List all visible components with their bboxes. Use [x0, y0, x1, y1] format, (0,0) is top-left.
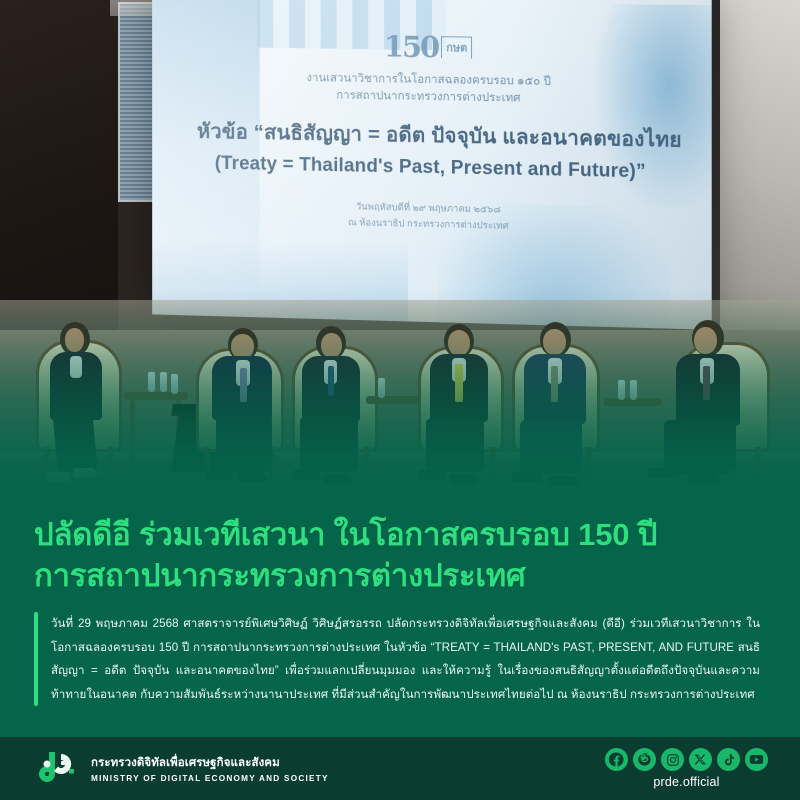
panelist-tie [240, 368, 247, 402]
ministry-brand: กระทรวงดิจิทัลเพื่อเศรษฐกิจและสังคม MINI… [32, 749, 329, 789]
social-handle: prde.official [653, 775, 719, 789]
panelist-shoe [512, 472, 542, 482]
slide-content: 150 กษต งานเสวนาวิชาการในโอกาสฉลองครบรอบ… [152, 0, 712, 330]
tiktok-icon[interactable] [717, 748, 740, 771]
facebook-icon[interactable] [605, 748, 628, 771]
panelist-shoe [688, 474, 720, 484]
panelist-shoe [46, 472, 70, 482]
anniversary-150-logo: 150 กษต [358, 27, 498, 67]
panelist-tie [328, 366, 334, 396]
ministry-name: กระทรวงดิจิทัลเพื่อเศรษฐกิจและสังคม MINI… [91, 754, 329, 783]
headline-line-1: ปลัดดีอี ร่วมเวทีเสวนา ในโอกาสครบรอบ 150… [34, 514, 766, 555]
footer-bar: กระทรวงดิจิทัลเพื่อเศรษฐกิจและสังคม MINI… [0, 737, 800, 800]
ministry-name-thai: กระทรวงดิจิทัลเพื่อเศรษฐกิจและสังคม [91, 754, 329, 772]
panelist-face [694, 327, 717, 354]
content-band: ปลัดดีอี ร่วมเวทีเสวนา ในโอกาสครบรอบ 150… [0, 500, 800, 737]
panelist-legs [300, 416, 358, 472]
panelist-shoe [418, 470, 446, 480]
instagram-icon[interactable] [661, 748, 684, 771]
panelist-tie [703, 366, 710, 400]
panelist-legs [520, 420, 582, 474]
panelist-face [448, 330, 470, 356]
x-twitter-icon[interactable] [689, 748, 712, 771]
panelist-shoe [73, 468, 97, 478]
room-wall-left [0, 0, 118, 330]
panelist-legs [664, 420, 736, 474]
panelist-face [543, 329, 566, 355]
panelist-shoe [205, 470, 233, 480]
mdes-logo-icon [32, 749, 78, 789]
projection-screen: 150 กษต งานเสวนาวิชาการในโอกาสฉลองครบรอบ… [152, 0, 712, 330]
side-table-leg [130, 400, 135, 462]
panelist-legs [426, 418, 484, 472]
panelist-shoe [548, 476, 578, 486]
ministry-name-english: MINISTRY OF DIGITAL ECONOMY AND SOCIETY [91, 774, 329, 783]
body-section: วันที่ 29 พฤษภาคม 2568 ศาสตราจารย์พิเศษว… [34, 612, 766, 706]
panelist-shoe [450, 474, 478, 484]
panelist-tie [551, 366, 558, 402]
water-bottle [618, 380, 625, 400]
side-table-2 [366, 396, 424, 404]
water-bottle [160, 372, 167, 392]
anniversary-number: 150 [384, 29, 438, 64]
threads-icon[interactable] [633, 748, 656, 771]
anniversary-badge: กษต [441, 36, 472, 58]
panelist-tie [455, 364, 463, 402]
headline-line-2: การสถาปนากระทรวงการต่างประเทศ [34, 555, 766, 596]
social-media-poster: 150 กษต งานเสวนาวิชาการในโอกาสฉลองครบรอบ… [0, 0, 800, 800]
slide-title-english: (Treaty = Thailand's Past, Present and F… [197, 153, 665, 184]
panelist-legs [52, 412, 97, 472]
panelist-shoe [648, 468, 680, 478]
side-table-1 [124, 392, 188, 400]
body-paragraph: วันที่ 29 พฤษภาคม 2568 ศาสตราจารย์พิเศษว… [51, 612, 766, 706]
water-bottle [630, 380, 637, 400]
youtube-icon[interactable] [745, 748, 768, 771]
panelist-shoe [324, 474, 352, 484]
accent-bar [34, 612, 38, 706]
panelist-shoe [238, 472, 266, 482]
water-bottle [148, 372, 155, 392]
page-title: ปลัดดีอี ร่วมเวทีเสวนา ในโอกาสครบรอบ 150… [34, 508, 766, 596]
panelist-shirt [70, 356, 82, 378]
water-bottle [378, 378, 385, 398]
panelist-legs [216, 414, 272, 472]
social-section: prde.official [605, 748, 768, 789]
panelist-face [65, 328, 84, 352]
panelist-shoe [292, 470, 320, 480]
social-links [605, 748, 768, 771]
event-photo: 150 กษต งานเสวนาวิชาการในโอกาสฉลองครบรอบ… [0, 0, 800, 520]
slide-title-thai: หัวข้อ “สนธิสัญญา = อดีต ปัจจุบัน และอนา… [197, 115, 665, 156]
panelist-face [321, 333, 342, 358]
water-bottle [171, 374, 178, 394]
